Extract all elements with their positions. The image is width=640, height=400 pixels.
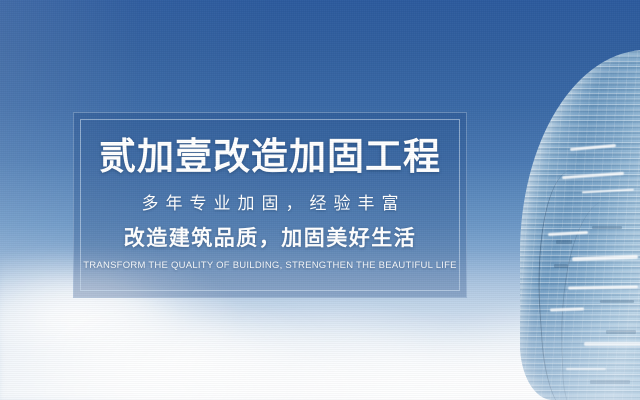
text-panel: 贰加壹改造加固工程 多年专业加固，经验丰富 改造建筑品质，加固美好生活 TRAN… (73, 112, 467, 298)
hero-banner: 贰加壹改造加固工程 多年专业加固，经验丰富 改造建筑品质，加固美好生活 TRAN… (0, 0, 640, 400)
building-window (554, 264, 568, 268)
banner-main-title: 贰加壹改造加固工程 (99, 138, 441, 177)
building-atmospheric-fade (520, 280, 640, 400)
skyscraper-building (520, 50, 640, 400)
building-window (592, 226, 622, 229)
panel-content: 贰加壹改造加固工程 多年专业加固，经验丰富 改造建筑品质，加固美好生活 TRAN… (74, 113, 466, 297)
banner-subtitle-primary: 多年专业加固，经验丰富 (135, 195, 406, 214)
building-window (556, 240, 572, 244)
banner-subtitle-secondary: 改造建筑品质，加固美好生活 (124, 227, 417, 250)
banner-subtitle-english: TRANSFORM THE QUALITY OF BUILDING, STREN… (83, 261, 457, 271)
